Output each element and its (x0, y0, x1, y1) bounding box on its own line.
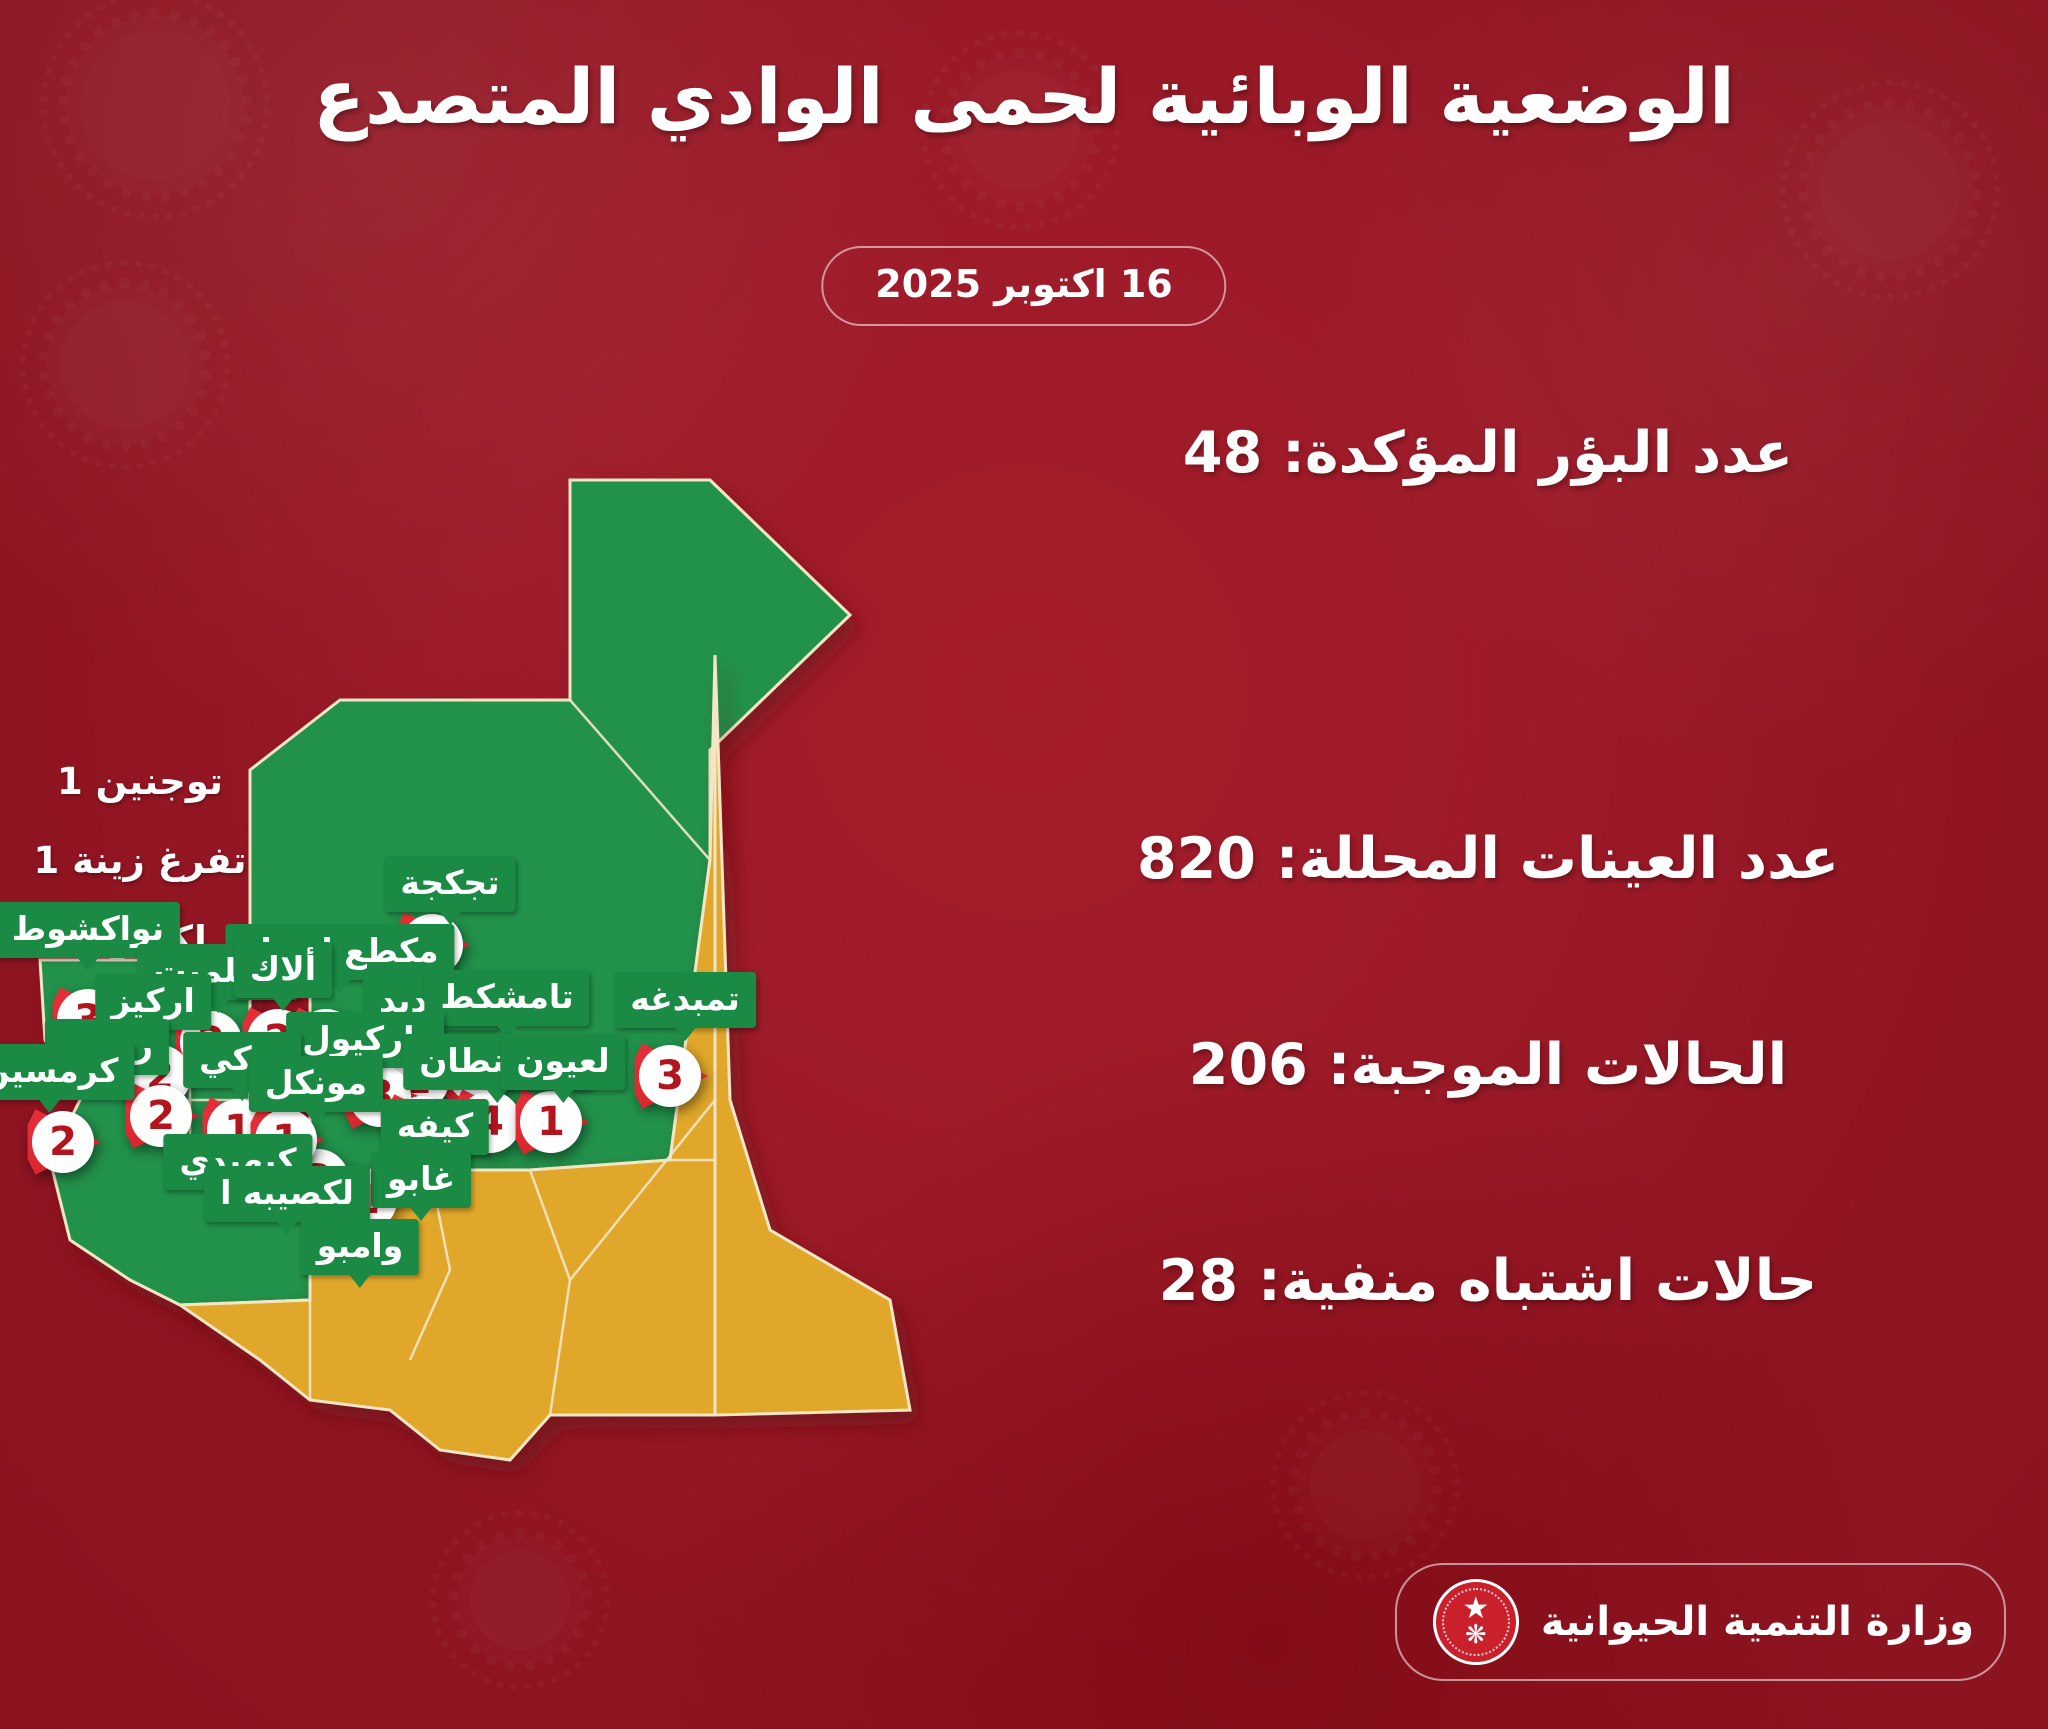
map-case-marker: 2 (26, 1103, 104, 1181)
map-label: لكصيبه ا (204, 1166, 370, 1222)
virus-decoration-icon (1310, 1430, 1420, 1540)
map-label: غابو (371, 1152, 471, 1208)
ministry-footer: وزارة التنمية الحيوانية ★ ❋ (1395, 1563, 2006, 1681)
report-date-badge: 16 اكتوبر 2025 (821, 246, 1226, 326)
map-label: كيفه (381, 1099, 489, 1155)
ministry-name: وزارة التنمية الحيوانية (1541, 1599, 1974, 1645)
map-case-marker: 3 (633, 1037, 711, 1115)
page-title: الوضعية الوبائية لحمى الوادي المتصدع (0, 52, 2048, 141)
map-label: تامشكط (424, 970, 589, 1026)
map-label: تمبدغه (614, 972, 756, 1028)
map-label: ألاك (234, 942, 332, 998)
virus-decoration-icon (1820, 120, 1960, 260)
map-label: لعيون (500, 1034, 625, 1090)
infographic-poster: الوضعية الوبائية لحمى الوادي المتصدع 16 … (0, 0, 2048, 1729)
marker-count: 2 (32, 1111, 94, 1173)
marker-count: 3 (639, 1045, 701, 1107)
map-label: مونكل (249, 1056, 383, 1112)
national-emblem-icon: ★ ❋ (1433, 1579, 1519, 1665)
map-label: وامبو (301, 1219, 419, 1275)
mauritania-map: تجكجة1مكطع لحجارنواكشوط3بوتلميت2ألاك2ارك… (10, 400, 1130, 1700)
map-label: تجكجة (384, 856, 515, 912)
emblem-crest-icon: ❋ (1465, 1622, 1487, 1648)
map-label: كرمسين (0, 1044, 134, 1100)
